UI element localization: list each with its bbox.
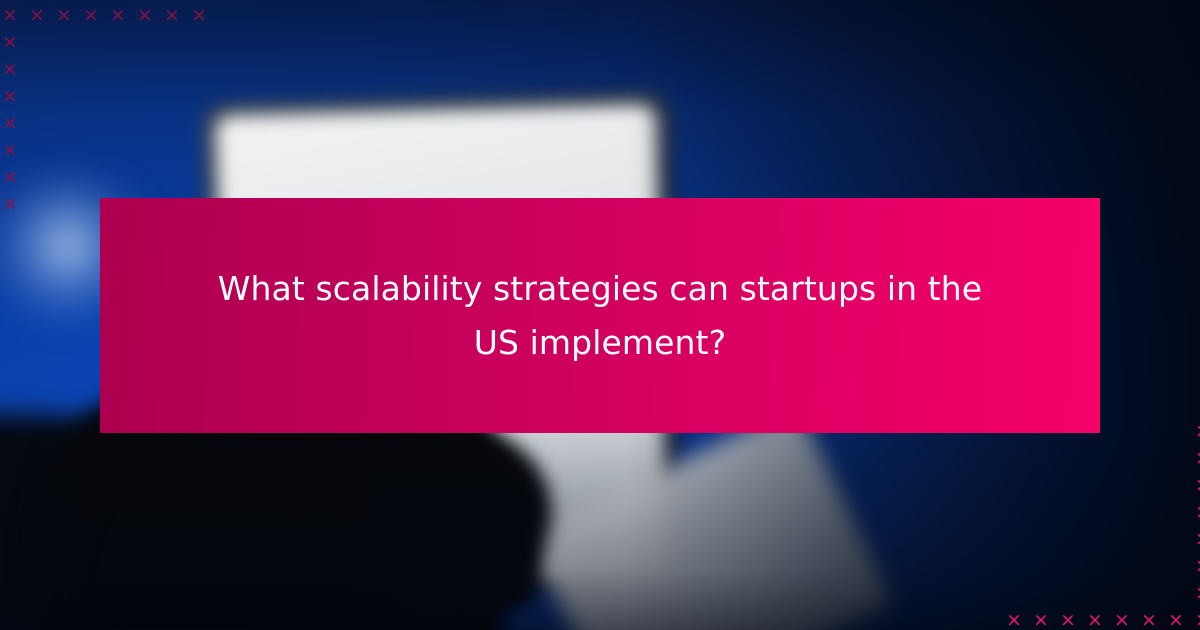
- question-card: ××××××××××××××× ××××××××××××××× What sca…: [0, 0, 1200, 630]
- headline-text: What scalability strategies can startups…: [205, 262, 995, 369]
- headline-banner: What scalability strategies can startups…: [100, 198, 1100, 433]
